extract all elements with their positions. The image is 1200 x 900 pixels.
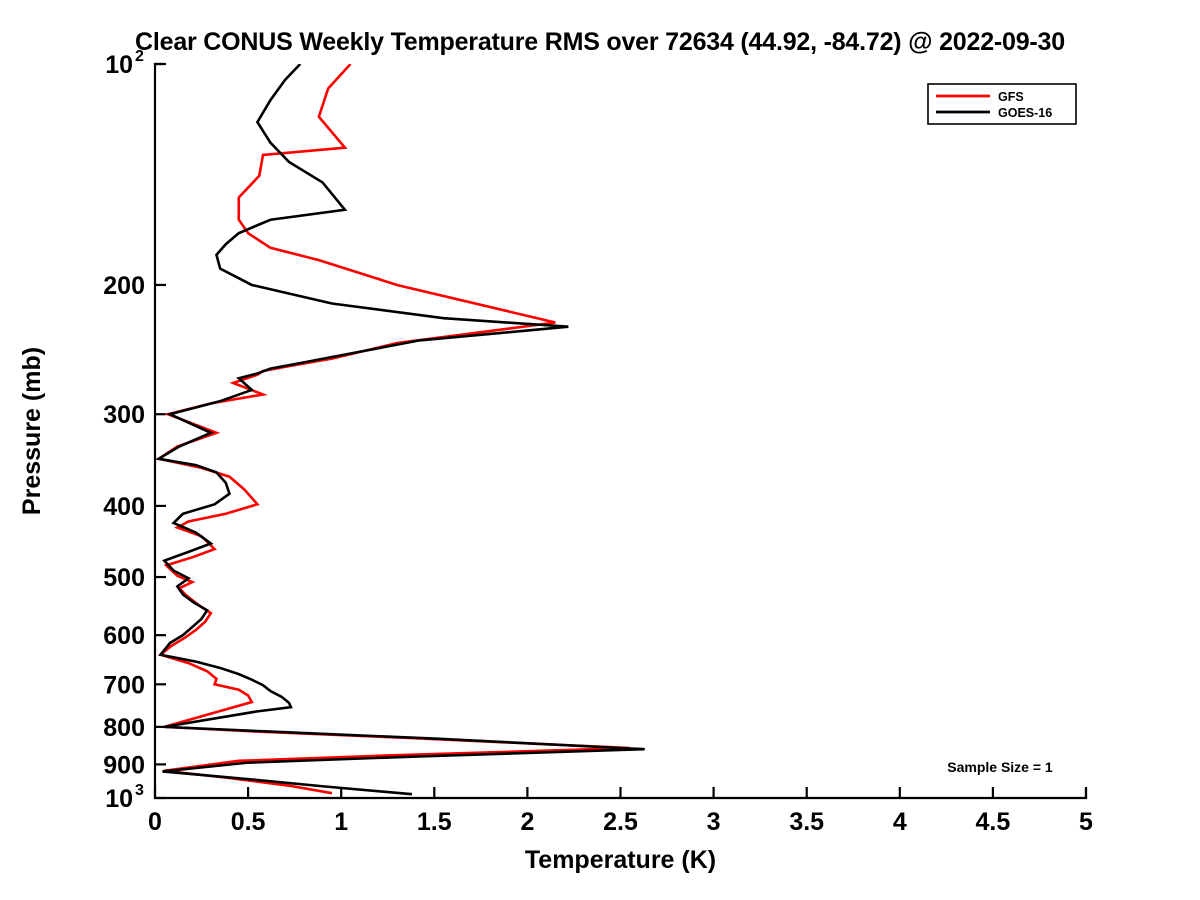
x-tick-label: 4.5	[976, 808, 1011, 836]
x-tick-label: 2	[520, 808, 534, 836]
y-tick-label: 700	[103, 671, 145, 699]
x-tick-label: 3	[707, 808, 721, 836]
y-axis-title: Pressure (mb)	[18, 347, 46, 515]
x-tick-label: 0.5	[231, 808, 266, 836]
svg-text:700: 700	[103, 671, 145, 699]
series-line-gfs	[159, 64, 630, 793]
y-tick-label: 900	[103, 751, 145, 779]
x-axis-title: Temperature (K)	[525, 846, 716, 874]
y-tick-label: 600	[103, 622, 145, 650]
figure-canvas: Clear CONUS Weekly Temperature RMS over …	[0, 0, 1200, 900]
y-tick-label: 200	[103, 272, 145, 300]
svg-text:800: 800	[103, 714, 145, 742]
svg-text:400: 400	[103, 493, 145, 521]
legend-label-goes-16[interactable]: GOES-16	[998, 106, 1052, 120]
x-tick-label: 1	[334, 808, 348, 836]
y-tick-label: 300	[103, 401, 145, 429]
x-tick-label: 4	[893, 808, 907, 836]
svg-text:200: 200	[103, 272, 145, 300]
svg-text:500: 500	[103, 564, 145, 592]
legend[interactable]: GFSGOES-16	[928, 84, 1076, 124]
svg-text:600: 600	[103, 622, 145, 650]
x-tick-label: 3.5	[789, 808, 824, 836]
svg-text:10: 10	[105, 51, 133, 79]
svg-text:3: 3	[135, 782, 144, 799]
y-tick-group: 102200300400500600700800900103	[103, 48, 166, 813]
x-tick-label: 0	[148, 808, 162, 836]
svg-text:2: 2	[135, 48, 144, 65]
x-tick-label: 5	[1079, 808, 1093, 836]
plot-area: 00.511.522.533.544.55 102200300400500600…	[0, 0, 1200, 900]
sample-size-text: Sample Size = 1	[947, 759, 1053, 775]
svg-text:900: 900	[103, 751, 145, 779]
x-tick-group: 00.511.522.533.544.55	[148, 787, 1093, 836]
y-tick-label: 103	[105, 782, 144, 813]
y-tick-label: 400	[103, 493, 145, 521]
x-tick-label: 2.5	[603, 808, 638, 836]
y-tick-label: 800	[103, 714, 145, 742]
x-tick-label: 1.5	[417, 808, 452, 836]
sample-size-annotation: Sample Size = 1	[947, 759, 1053, 775]
axis-frame	[155, 64, 1086, 798]
axes-group	[155, 64, 1086, 798]
svg-text:10: 10	[105, 785, 133, 813]
series-line-goes-16	[159, 64, 645, 794]
svg-text:300: 300	[103, 401, 145, 429]
legend-label-gfs[interactable]: GFS	[998, 90, 1024, 104]
y-tick-label: 102	[105, 48, 144, 79]
y-tick-label: 500	[103, 564, 145, 592]
data-series-group	[159, 64, 645, 794]
